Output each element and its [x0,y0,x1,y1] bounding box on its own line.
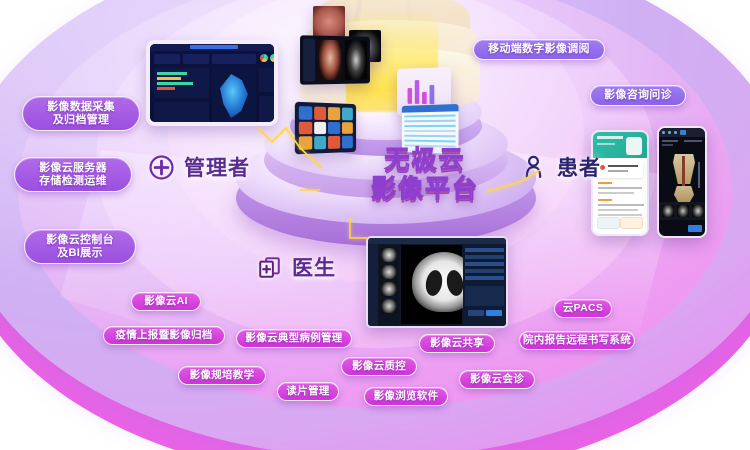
pill-image-cloud-sharing[interactable]: 影像云共享 [419,334,495,353]
pill-intra-hospital-report-system[interactable]: 院内报告远程书写系统 [519,331,635,350]
pill-image-viewer-software[interactable]: 影像浏览软件 [364,387,448,406]
person-icon [521,154,548,181]
skeleton-3d-phone [657,126,707,238]
bi-dashboard-screen [146,40,278,126]
pill-film-reading-management[interactable]: 读片管理 [277,382,339,401]
circle-plus-icon [148,154,175,181]
pill-image-cloud-ai[interactable]: 影像云AI [131,292,201,311]
pill-image-cloud-qc[interactable]: 影像云质控 [341,357,417,376]
pill-image-consultation[interactable]: 影像咨询问诊 [590,85,686,106]
infographic-canvas: 无极云 影像平台 管理者 患者 医生 [0,0,750,450]
pill-image-cloud-console[interactable]: 影像云控制台 及BI展示 [24,229,136,264]
role-doctor-label: 医生 [292,252,336,282]
pill-image-cloud-server[interactable]: 影像云服务器 存储检测运维 [14,157,132,192]
role-patient[interactable]: 患者 [521,152,601,182]
pill-cloud-pacs[interactable]: 云PACS [554,299,612,318]
role-admin-label: 管理者 [184,152,250,182]
pill-image-cloud-consultation[interactable]: 影像云会诊 [459,370,535,389]
pill-mobile-image-access[interactable]: 移动端数字影像调阅 [473,39,605,60]
page-title: 无极云 影像平台 [330,146,520,204]
role-patient-label: 患者 [557,152,601,182]
pill-image-data-collection[interactable]: 影像数据采集 及归档管理 [22,96,140,131]
document-plus-icon [256,254,283,281]
patient-consult-phone [591,130,649,236]
mri-panel-screen [300,35,370,84]
role-admin[interactable]: 管理者 [148,152,250,182]
endoscopy-thumbnail [313,6,345,38]
role-doctor[interactable]: 医生 [256,252,336,282]
ct-viewer-screen [366,236,508,328]
pill-typical-case-management[interactable]: 影像云典型病例管理 [236,329,352,348]
pill-epidemic-report-archive[interactable]: 疫情上报暨影像归档 [103,326,225,345]
pill-standardized-training[interactable]: 影像规培教学 [178,366,266,385]
